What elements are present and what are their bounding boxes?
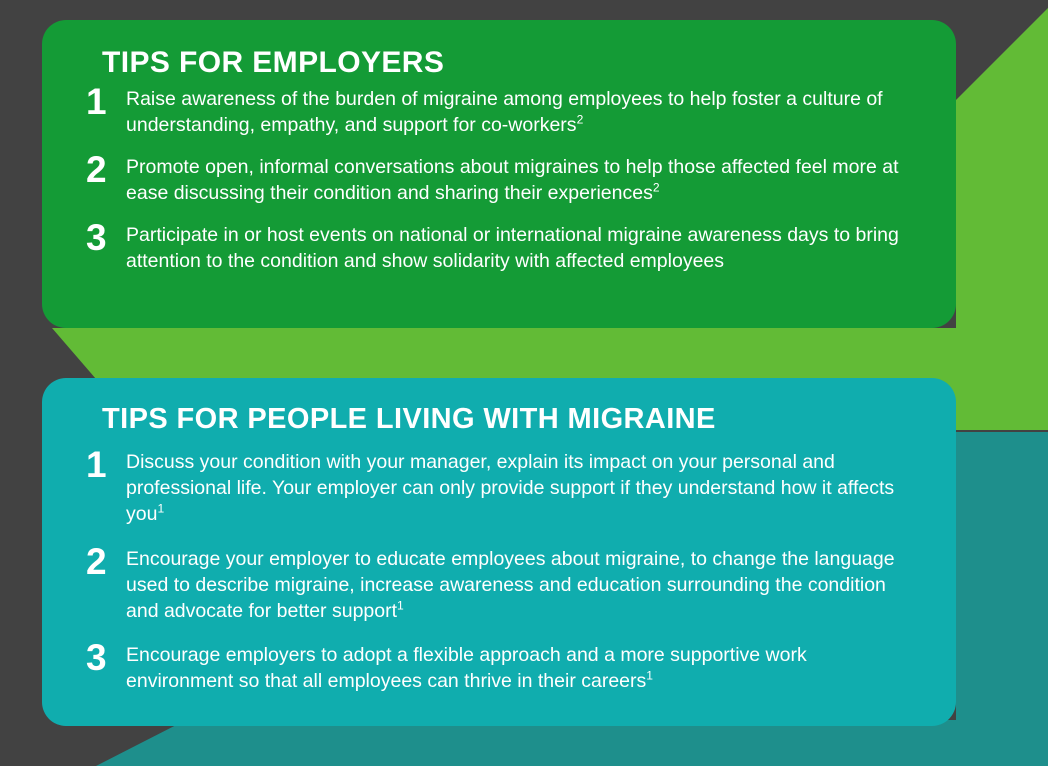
tip-text: Promote open, informal conversations abo… — [126, 153, 912, 207]
tip-reference: 2 — [577, 112, 584, 126]
tip-item: 2 Encourage your employer to educate emp… — [80, 545, 912, 625]
tip-body: Raise awareness of the burden of migrain… — [126, 88, 883, 136]
card-title-employers: TIPS FOR EMPLOYERS — [102, 46, 912, 79]
tip-item: 1 Raise awareness of the burden of migra… — [80, 85, 912, 139]
tip-body: Discuss your condition with your manager… — [126, 451, 894, 525]
tip-text: Encourage employers to adopt a flexible … — [126, 641, 912, 695]
tip-reference: 1 — [397, 598, 404, 612]
tip-item: 1 Discuss your condition with your manag… — [80, 448, 912, 528]
tip-text: Participate in or host events on nationa… — [126, 221, 912, 275]
tip-number: 1 — [80, 448, 126, 482]
tip-item: 3 Encourage employers to adopt a flexibl… — [80, 641, 912, 695]
card-title-people: TIPS FOR PEOPLE LIVING WITH MIGRAINE — [102, 404, 912, 436]
tip-body: Encourage employers to adopt a flexible … — [126, 644, 807, 692]
tip-body: Participate in or host events on nationa… — [126, 224, 899, 272]
card-tips-for-people-living-with-migraine: TIPS FOR PEOPLE LIVING WITH MIGRAINE 1 D… — [42, 378, 956, 726]
tip-number: 2 — [80, 545, 126, 579]
card-tips-for-employers: TIPS FOR EMPLOYERS 1 Raise awareness of … — [42, 20, 956, 328]
tip-number: 3 — [80, 641, 126, 675]
tip-body: Promote open, informal conversations abo… — [126, 156, 899, 204]
tip-reference: 2 — [653, 180, 660, 194]
tip-text: Encourage your employer to educate emplo… — [126, 545, 912, 625]
tip-text: Discuss your condition with your manager… — [126, 448, 912, 528]
tip-text: Raise awareness of the burden of migrain… — [126, 85, 912, 139]
tip-number: 3 — [80, 221, 126, 255]
infographic-page: TIPS FOR EMPLOYERS 1 Raise awareness of … — [0, 0, 1048, 766]
tip-body: Encourage your employer to educate emplo… — [126, 548, 895, 622]
tip-number: 2 — [80, 153, 126, 187]
tip-list-people: 1 Discuss your condition with your manag… — [80, 448, 912, 695]
tip-number: 1 — [80, 85, 126, 119]
tip-item: 2 Promote open, informal conversations a… — [80, 153, 912, 207]
tip-list-employers: 1 Raise awareness of the burden of migra… — [80, 85, 912, 275]
tip-reference: 1 — [157, 501, 164, 515]
tip-item: 3 Participate in or host events on natio… — [80, 221, 912, 275]
tip-reference: 1 — [646, 669, 653, 683]
